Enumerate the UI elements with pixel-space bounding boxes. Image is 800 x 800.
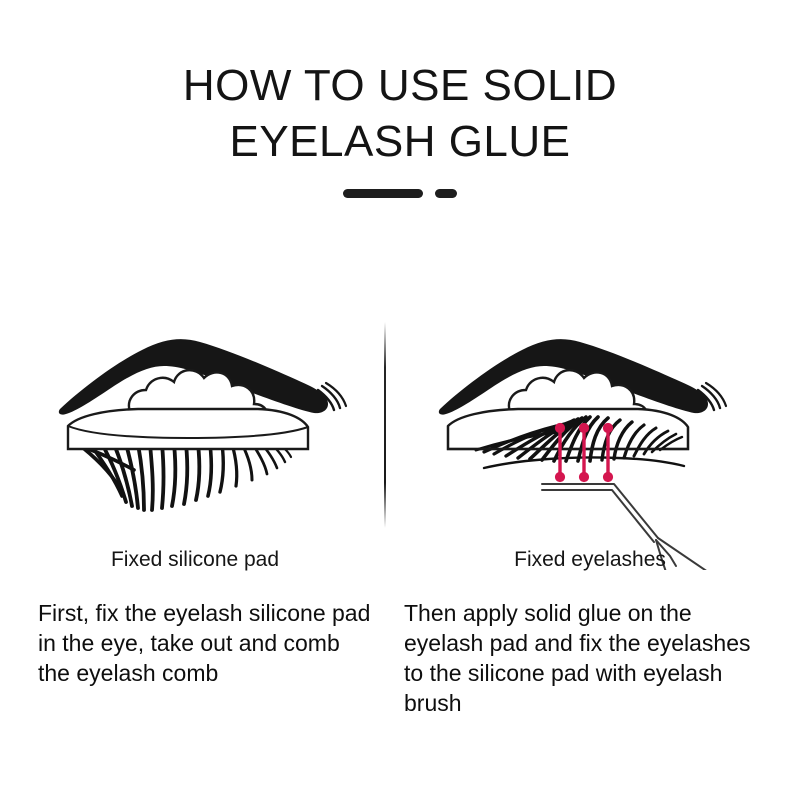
body-text-step-1: First, fix the eyelash silicone pad in t… xyxy=(38,598,374,688)
title-line-2: EYELASH GLUE xyxy=(0,114,800,170)
title-line-1: HOW TO USE SOLID xyxy=(0,58,800,114)
infographic-page: HOW TO USE SOLID EYELASH GLUE xyxy=(0,0,800,800)
short-dash-icon xyxy=(435,189,457,198)
panel-divider xyxy=(384,322,386,528)
caption-step-1: Fixed silicone pad xyxy=(30,547,360,573)
body-text-step-2: Then apply solid glue on the eyelash pad… xyxy=(404,598,774,718)
eye-silicone-pad-drawing xyxy=(18,310,378,570)
eyelashes-icon xyxy=(72,440,291,510)
title-dash-rule xyxy=(0,189,800,198)
illustration-step-1 xyxy=(18,310,378,570)
eye-glued-lashes-brush-drawing xyxy=(418,310,778,570)
caption-step-2: Fixed eyelashes xyxy=(425,547,755,573)
illustration-step-2 xyxy=(418,310,778,570)
long-dash-icon xyxy=(343,189,423,198)
page-title: HOW TO USE SOLID EYELASH GLUE xyxy=(0,58,800,170)
